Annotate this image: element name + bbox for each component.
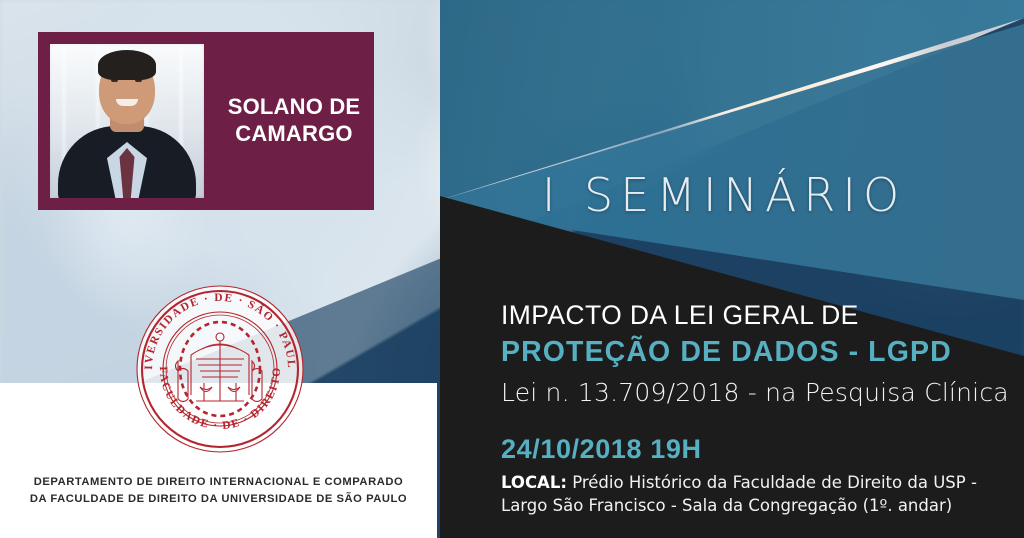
event-date: 24/10/2018 19H xyxy=(501,434,1011,465)
department-caption: DEPARTAMENTO DE DIREITO INTERNACIONAL E … xyxy=(0,474,437,509)
event-title-line-1: IMPACTO DA LEI GERAL DE xyxy=(501,300,1011,330)
event-title-line-2: PROTEÇÃO DE DADOS - LGPD xyxy=(501,335,1011,371)
event-location: LOCAL: Prédio Histórico da Faculdade de … xyxy=(501,471,1011,518)
speaker-name-line-2: CAMARGO xyxy=(235,121,353,148)
location-line-1: Prédio Histórico da Faculdade de Direito… xyxy=(567,473,977,492)
location-label: LOCAL: xyxy=(501,473,567,492)
event-details-block: IMPACTO DA LEI GERAL DE PROTEÇÃO DE DADO… xyxy=(501,300,1011,517)
location-line-2: Largo São Francisco - Sala da Congregaçã… xyxy=(501,496,952,515)
department-line-2: DA FACULDADE DE DIREITO DA UNIVERSIDADE … xyxy=(0,491,437,508)
seminar-kicker: I SEMINÁRIO xyxy=(440,168,1008,222)
speaker-portrait-photo xyxy=(50,44,204,198)
smile-shape xyxy=(116,99,138,106)
speaker-name-line-1: SOLANO DE xyxy=(228,94,361,121)
usp-seal-logo: UNIVERSIDADE · DE · SÃO · PAULO · · FACU… xyxy=(134,283,306,455)
event-subtitle: Lei n. 13.709/2018 - na Pesquisa Clínica xyxy=(501,377,1011,410)
hair-shape xyxy=(98,50,156,80)
poster-canvas: SOLANO DE CAMARGO xyxy=(0,0,1024,538)
department-line-1: DEPARTAMENTO DE DIREITO INTERNACIONAL E … xyxy=(0,474,437,491)
speaker-badge: SOLANO DE CAMARGO xyxy=(38,32,374,210)
speaker-name: SOLANO DE CAMARGO xyxy=(218,32,370,210)
